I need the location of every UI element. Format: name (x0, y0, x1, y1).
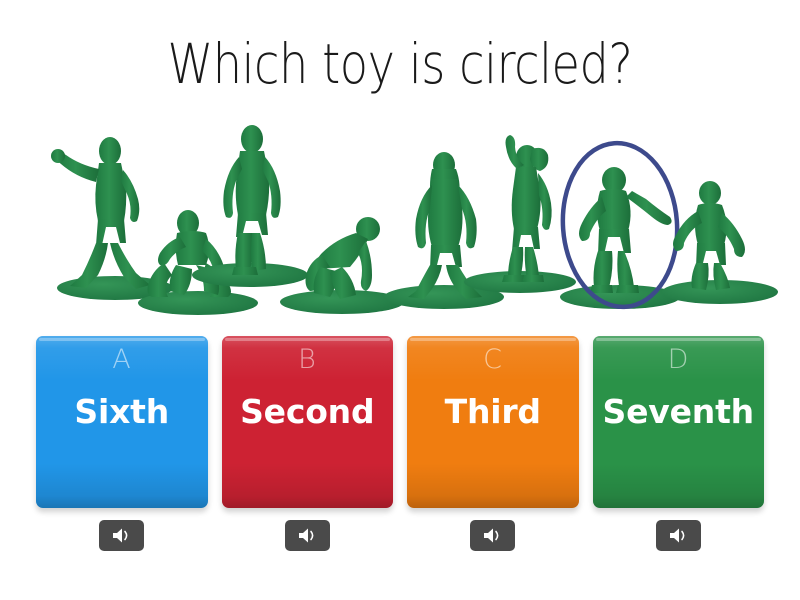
toy-image (20, 125, 780, 315)
speaker-icon (669, 527, 688, 544)
toy-figure-3 (192, 125, 308, 287)
page-title: Which toy is circled? (64, 34, 736, 95)
answer-label-b: Second (234, 395, 380, 430)
audio-slot-b (222, 519, 394, 551)
audio-slot-d (593, 519, 765, 551)
answer-card-a[interactable]: A Sixth (36, 336, 208, 508)
audio-button-c[interactable] (470, 520, 515, 551)
audio-button-b[interactable] (285, 520, 330, 551)
answer-card-d[interactable]: D Seventh (593, 336, 765, 508)
answer-letter-d: D (668, 346, 689, 373)
answer-letter-c: C (483, 346, 502, 373)
answer-card-c[interactable]: C Third (407, 336, 579, 508)
answer-letter-a: A (112, 346, 131, 373)
answer-label-c: Third (439, 395, 547, 430)
audio-slot-a (36, 519, 208, 551)
speaker-icon (483, 527, 502, 544)
audio-button-row (36, 519, 764, 551)
answer-options: A Sixth B Second C Third D Seventh (36, 336, 764, 508)
audio-slot-c (407, 519, 579, 551)
answer-label-a: Sixth (68, 395, 175, 430)
speaker-icon (298, 527, 317, 544)
audio-button-d[interactable] (656, 520, 701, 551)
toy-figure-6 (464, 135, 576, 293)
audio-button-a[interactable] (99, 520, 144, 551)
toy-figure-7-circled (557, 139, 682, 311)
answer-letter-b: B (298, 346, 316, 373)
answer-card-b[interactable]: B Second (222, 336, 394, 508)
answer-label-d: Seventh (597, 395, 760, 430)
quiz-screen: Which toy is circled? (0, 0, 800, 600)
speaker-icon (112, 527, 131, 544)
toy-figure-8 (662, 181, 778, 304)
